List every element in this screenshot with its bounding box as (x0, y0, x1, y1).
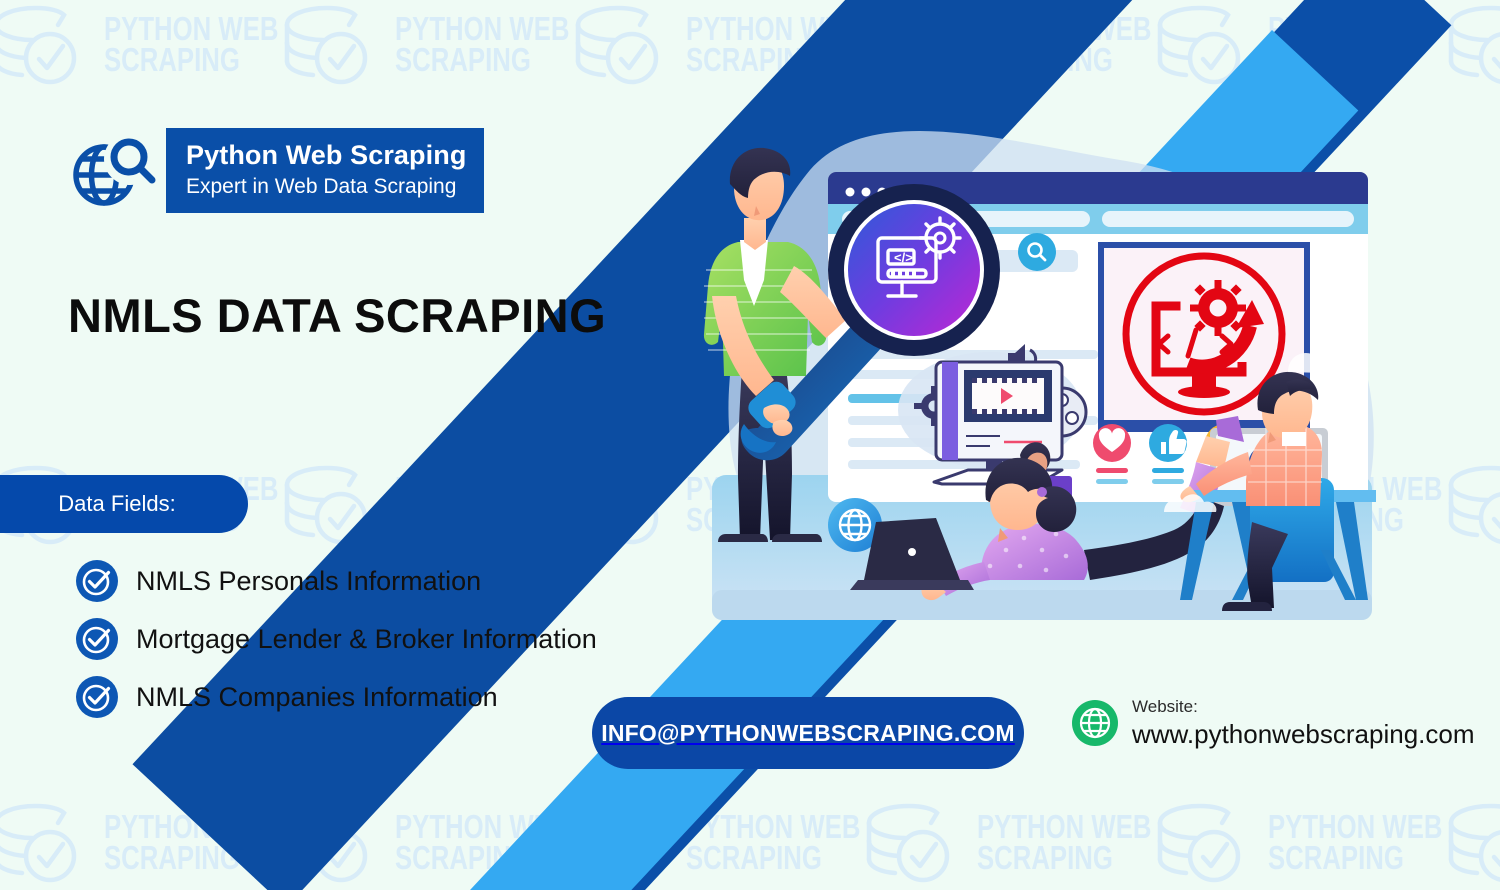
svg-text:</>: </> (894, 250, 913, 265)
magnifier-lens: </> (828, 184, 1000, 356)
database-check-icon (1152, 3, 1248, 87)
database-check-icon (570, 463, 666, 547)
watermark-text: PYTHON WEB SCRAPING (104, 14, 278, 75)
database-check-icon (1443, 3, 1500, 87)
watermark-text: PYTHON WEB SCRAPING (977, 14, 1151, 75)
database-check-icon (1443, 801, 1500, 885)
globe-icon (1072, 700, 1118, 746)
watermark-tile: PYTHON WEB SCRAPING (279, 0, 569, 97)
database-check-icon (570, 801, 666, 885)
database-check-icon (0, 801, 84, 885)
web-scraping-illustration: </> (690, 110, 1405, 635)
list-item: Mortgage Lender & Broker Information (76, 618, 597, 660)
browser-dot (862, 188, 871, 197)
brand-logo-box: Python Web Scraping Expert in Web Data S… (166, 128, 484, 213)
list-item-label: Mortgage Lender & Broker Information (136, 624, 597, 655)
watermark-text: PYTHON WEB SCRAPING (104, 812, 278, 873)
watermark-tile: PYTHON WEB SCRAPING (1443, 452, 1500, 557)
watermark-tile: PYTHON WEB SCRAPING (0, 0, 278, 97)
brand-logo[interactable]: Python Web Scraping Expert in Web Data S… (68, 128, 484, 213)
database-check-icon (861, 801, 957, 885)
data-fields-label: Data Fields: (58, 491, 189, 517)
database-check-icon (1152, 801, 1248, 885)
database-check-icon (279, 801, 375, 885)
email-label: INFO@PYTHONWEBSCRAPING.COM (601, 720, 1015, 747)
watermark-text: PYTHON WEB SCRAPING (395, 14, 569, 75)
glyph-code: </> (894, 250, 913, 265)
watermark-text: PYTHON WEB SCRAPING (977, 812, 1151, 873)
data-fields-list: NMLS Personals Information Mortgage Lend… (76, 560, 597, 718)
database-check-icon (861, 3, 957, 87)
globe-search-icon (68, 133, 160, 209)
search-badge-icon (1018, 233, 1056, 271)
watermark-tile: PYTHON WEB SCRAPING (861, 0, 1151, 97)
watermark-text: PYTHON WEB SCRAPING (1268, 14, 1442, 75)
page-title: NMLS DATA SCRAPING (68, 288, 606, 343)
watermark-text: PYTHON WEB SCRAPING (395, 474, 569, 535)
watermark-tile: PYTHON WEB SCRAPING (1443, 0, 1500, 97)
data-fields-pill: Data Fields: (0, 475, 248, 533)
watermark-tile: PYTHON WEB SCRAPING (279, 790, 569, 890)
list-item-label: NMLS Companies Information (136, 682, 498, 713)
watermark-tile: PYTHON WEB SCRAPING (570, 0, 860, 97)
watermark-tile: PYTHON WEB SCRAPING (570, 790, 860, 890)
watermark-tile: PYTHON WEB SCRAPING (279, 452, 569, 557)
list-item: NMLS Companies Information (76, 676, 597, 718)
watermark-tile: PYTHON WEB SCRAPING (0, 790, 278, 890)
watermark-tile: PYTHON WEB SCRAPING (861, 790, 1151, 890)
watermark-text: PYTHON WEB SCRAPING (1268, 812, 1442, 873)
website-url: www.pythonwebscraping.com (1132, 720, 1475, 749)
database-check-icon (279, 463, 375, 547)
brand-name: Python Web Scraping (186, 140, 466, 171)
browser-search-field (1102, 211, 1354, 227)
watermark-text: PYTHON WEB SCRAPING (686, 812, 860, 873)
watermark-tile: PYTHON WEB SCRAPING (1152, 0, 1442, 97)
database-check-icon (1443, 463, 1500, 547)
browser-dot (846, 188, 855, 197)
website-label: Website: (1132, 698, 1475, 717)
check-circle-icon (76, 676, 118, 718)
database-check-icon (0, 3, 84, 87)
check-circle-icon (76, 618, 118, 660)
list-item-label: NMLS Personals Information (136, 566, 481, 597)
watermark-tile: PYTHON WEB SCRAPING (1443, 790, 1500, 890)
database-check-icon (279, 3, 375, 87)
banner-root: PYTHON WEB SCRAPINGPYTHON WEB SCRAPINGPY… (0, 0, 1500, 890)
list-item: NMLS Personals Information (76, 560, 597, 602)
watermark-text: PYTHON WEB SCRAPING (395, 812, 569, 873)
website-block[interactable]: Website: www.pythonwebscraping.com (1072, 698, 1475, 748)
watermark-tile: PYTHON WEB SCRAPING (1152, 790, 1442, 890)
email-button[interactable]: INFO@PYTHONWEBSCRAPING.COM (592, 697, 1024, 769)
database-check-icon (570, 3, 666, 87)
laptop-base (850, 580, 974, 590)
brand-tagline: Expert in Web Data Scraping (186, 174, 466, 199)
check-circle-icon (76, 560, 118, 602)
watermark-text: PYTHON WEB SCRAPING (686, 14, 860, 75)
